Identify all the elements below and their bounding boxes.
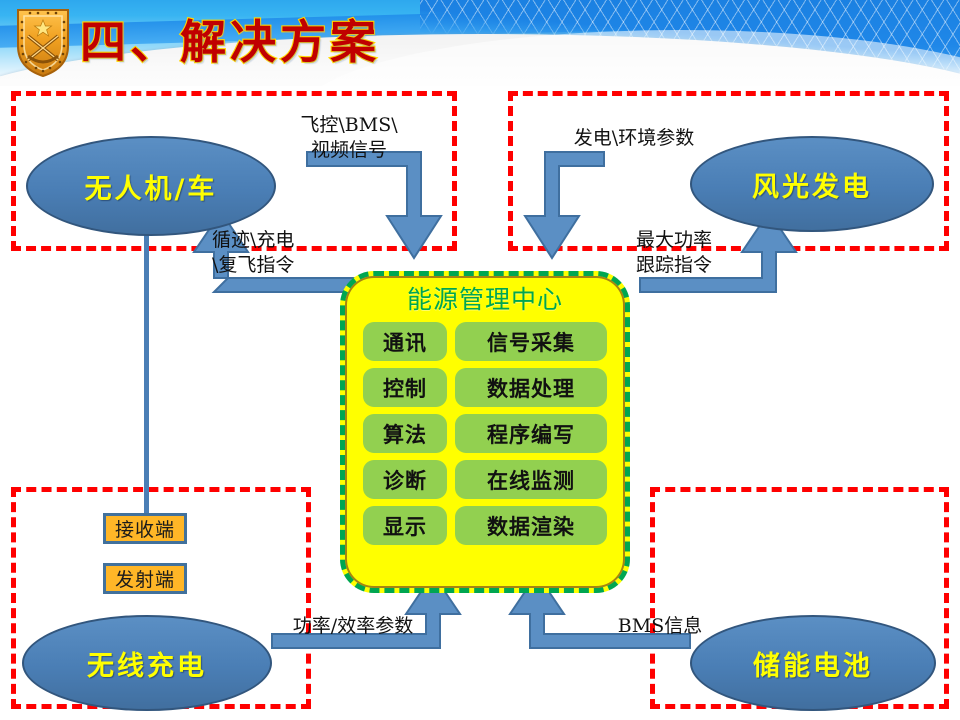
tag-receiver[interactable]: 接收端: [103, 513, 187, 544]
edge-label-generation-env: 发电\环境参数: [534, 126, 734, 151]
chip-diagnosis[interactable]: 诊断: [363, 460, 447, 499]
chip-control[interactable]: 控制: [363, 368, 447, 407]
chip-communication[interactable]: 通讯: [363, 322, 447, 361]
page-title: 四、解决方案: [80, 6, 380, 72]
edge-label-power-efficiency: 功率/效率参数: [258, 614, 448, 639]
center-panel-title: 能源管理中心: [345, 280, 625, 316]
edge-label-flight-control: 飞控\BMS\ 视频信号: [274, 113, 424, 163]
edge-label-tracking-charging: 循迹\充电 \复飞指令: [212, 228, 380, 278]
chip-program-writing[interactable]: 程序编写: [455, 414, 607, 453]
tag-transmitter[interactable]: 发射端: [103, 563, 187, 594]
uav-to-receiver-connector: [144, 232, 149, 515]
slide-header: 四、解决方案: [0, 0, 960, 86]
edge-label-bms-info: BMS信息: [590, 614, 730, 639]
center-right-column: 信号采集 数据处理 程序编写 在线监测 数据渲染: [455, 322, 607, 545]
chip-signal-acquisition[interactable]: 信号采集: [455, 322, 607, 361]
edge-label-max-power-tracking: 最大功率 跟踪指令: [636, 228, 766, 278]
center-left-column: 通讯 控制 算法 诊断 显示: [363, 322, 447, 545]
center-panel-chip-grid: 通讯 控制 算法 诊断 显示 信号采集 数据处理 程序编写 在线监测 数据渲染: [345, 322, 625, 545]
chip-data-rendering[interactable]: 数据渲染: [455, 506, 607, 545]
chip-algorithm[interactable]: 算法: [363, 414, 447, 453]
slide-canvas: 四、解决方案 无人机/车 风光发电 无线充电 储能电池 接收端 发射端 能源管理…: [0, 0, 960, 720]
chip-data-processing[interactable]: 数据处理: [455, 368, 607, 407]
node-uav[interactable]: 无人机/车: [26, 136, 276, 236]
node-wireless-charging[interactable]: 无线充电: [22, 615, 272, 711]
energy-management-center-panel: 能源管理中心 通讯 控制 算法 诊断 显示 信号采集 数据处理 程序编写 在线监…: [340, 271, 630, 593]
shield-emblem-icon: [14, 6, 72, 78]
chip-online-monitoring[interactable]: 在线监测: [455, 460, 607, 499]
chip-display[interactable]: 显示: [363, 506, 447, 545]
